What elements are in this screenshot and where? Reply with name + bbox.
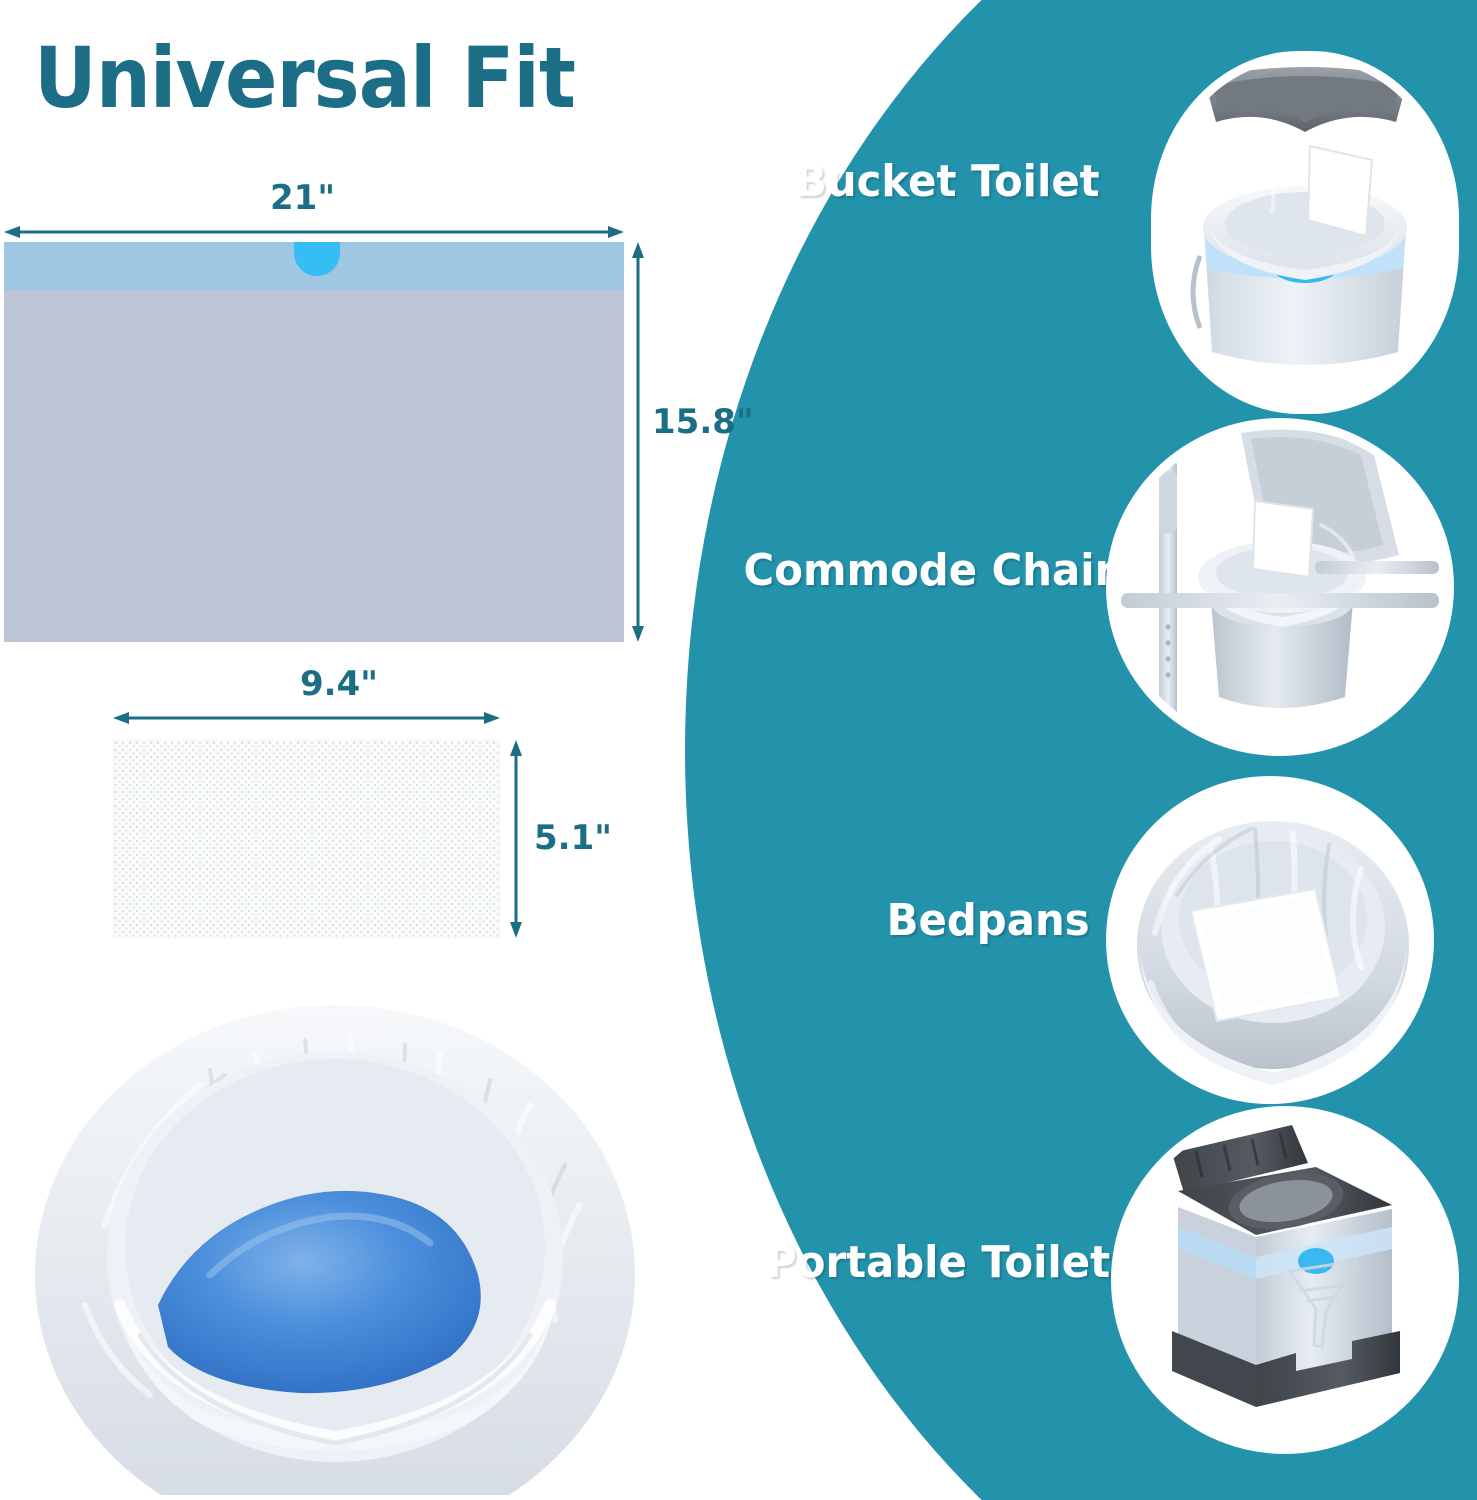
use-case-label-commode-chair: Commode Chair <box>743 545 1115 596</box>
bag-dimension-diagram: 21" 15.8" <box>0 190 660 660</box>
pad-height-arrow <box>508 740 524 938</box>
bag-width-label: 21" <box>270 178 335 218</box>
use-case-label-bucket-toilet: Bucket Toilet <box>795 156 1100 207</box>
pad-height-label: 5.1" <box>534 818 612 858</box>
bag-height-arrow <box>630 242 646 642</box>
absorbent-pad-shape <box>113 740 500 938</box>
commode-chair-photo <box>1115 427 1445 747</box>
liner-bag-shape <box>4 242 624 642</box>
pad-width-label: 9.4" <box>300 664 378 704</box>
pad-dimension-diagram: 9.4" 5.1" <box>0 668 660 968</box>
pad-width-arrow <box>113 710 500 726</box>
use-case-bucket-toilet: Bucket Toilet <box>740 60 1460 410</box>
portable-toilet-photo <box>1120 1115 1450 1445</box>
page-title: Universal Fit <box>34 36 575 120</box>
bucket-toilet-photo <box>1160 60 1450 405</box>
use-case-portable-toilet: Portable Toilet <box>745 1115 1460 1455</box>
infographic-canvas: Universal Fit 21" 15.8" 9.4" <box>0 0 1477 1500</box>
bag-width-arrow <box>4 224 624 240</box>
use-case-label-portable-toilet: Portable Toilet <box>766 1237 1110 1288</box>
use-case-bedpans: Bedpans <box>760 785 1460 1100</box>
bedpan-photo <box>1115 785 1425 1095</box>
lined-bucket-with-blue-gel-photo <box>10 975 660 1495</box>
use-case-label-bedpans: Bedpans <box>887 895 1090 946</box>
use-case-commode-chair: Commode Chair <box>730 425 1460 750</box>
